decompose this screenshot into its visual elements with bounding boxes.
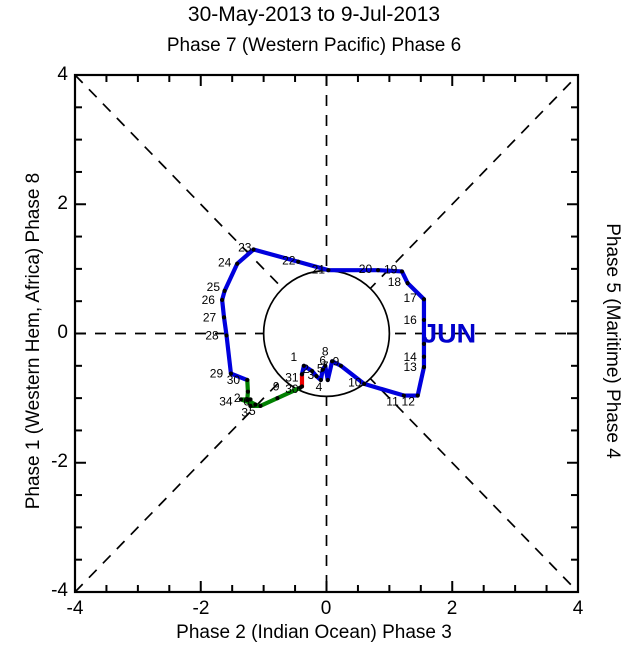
svg-text:22: 22 [282, 253, 296, 267]
svg-text:30: 30 [227, 373, 241, 387]
svg-text:27: 27 [203, 310, 217, 324]
svg-text:28: 28 [205, 328, 219, 342]
mjo-phase-diagram: 30-May-2013 to 9-Jul-2013 Phase 7 (Weste… [0, 0, 628, 656]
svg-text:8: 8 [322, 345, 329, 359]
svg-text:3: 3 [307, 368, 314, 382]
svg-text:19: 19 [384, 263, 398, 277]
svg-text:4: 4 [316, 380, 323, 394]
svg-text:14: 14 [403, 350, 417, 364]
svg-text:29: 29 [210, 367, 224, 381]
svg-text:16: 16 [403, 313, 417, 327]
svg-text:25: 25 [207, 280, 221, 294]
svg-text:31: 31 [285, 370, 299, 384]
svg-text:12: 12 [402, 394, 416, 408]
svg-text:10: 10 [348, 376, 362, 390]
svg-text:18: 18 [388, 275, 402, 289]
svg-text:23: 23 [238, 241, 252, 255]
svg-text:17: 17 [403, 291, 417, 305]
svg-text:9: 9 [273, 379, 280, 393]
svg-text:26: 26 [202, 293, 216, 307]
svg-text:34: 34 [219, 394, 233, 408]
svg-text:24: 24 [218, 255, 232, 269]
svg-text:5: 5 [249, 404, 256, 418]
svg-text:7: 7 [322, 359, 329, 373]
svg-text:3: 3 [241, 405, 248, 419]
month-labels: JUN [422, 319, 476, 349]
svg-text:1: 1 [290, 350, 297, 364]
svg-text:JUN: JUN [422, 319, 476, 349]
svg-text:20: 20 [359, 262, 373, 276]
svg-text:9: 9 [333, 354, 340, 368]
plot-canvas: 1234567891011121314161718192021222324252… [0, 0, 628, 656]
svg-text:2: 2 [234, 391, 241, 405]
svg-text:11: 11 [386, 394, 399, 408]
svg-text:21: 21 [312, 263, 326, 277]
